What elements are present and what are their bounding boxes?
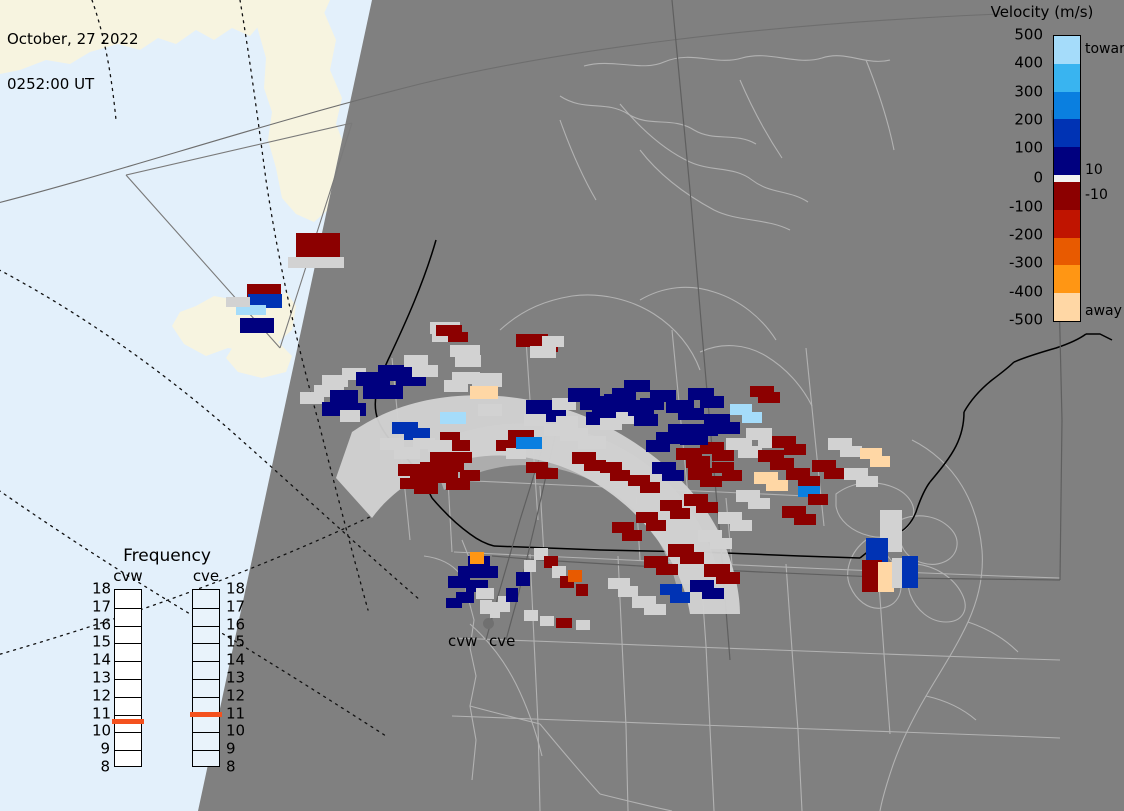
velocity-cell	[612, 388, 636, 400]
colorbar-away-label: away	[1085, 304, 1122, 318]
velocity-cell	[766, 480, 788, 491]
colorbar-tick-label: 500	[1014, 28, 1043, 43]
colorbar-tick-label: 100	[1014, 141, 1043, 156]
frequency-tick-label: 11	[92, 706, 110, 721]
frequency-tick-label: 16	[226, 617, 248, 632]
colorbar-tick-label: 200	[1014, 113, 1043, 128]
velocity-cell	[240, 318, 274, 333]
frequency-tick-label: 10	[92, 724, 110, 739]
velocity-cell	[516, 572, 530, 586]
velocity-cell	[476, 588, 494, 599]
velocity-cell	[576, 620, 590, 630]
colorbar-tick-label: -400	[1009, 284, 1043, 299]
frequency-gridline	[193, 661, 219, 662]
velocity-cell	[452, 452, 472, 463]
colorbar-tick-labels: 5004003002001000-100-200-300-400-500	[965, 35, 1049, 322]
velocity-cell	[742, 412, 762, 423]
velocity-cell	[662, 470, 684, 481]
velocity-cell	[300, 392, 324, 404]
velocity-cell	[524, 610, 538, 621]
frequency-gridline	[193, 626, 219, 627]
timestamp: October, 27 2022 0252:00 UT	[7, 2, 139, 122]
colorbar-tick-label: 300	[1014, 84, 1043, 99]
velocity-cell	[536, 468, 558, 479]
velocity-cell	[808, 494, 828, 505]
frequency-gridline	[115, 697, 141, 698]
colorbar-band	[1054, 210, 1080, 239]
velocity-cell	[748, 498, 770, 509]
velocity-cell	[380, 438, 404, 450]
frequency-marker-cve	[190, 712, 222, 717]
velocity-cell	[646, 520, 666, 531]
timestamp-time: 0252:00 UT	[7, 77, 139, 92]
velocity-cell	[680, 552, 704, 564]
velocity-cell	[618, 586, 638, 597]
frequency-tick-label: 12	[226, 688, 248, 703]
colorbar-tick-label: -100	[1009, 199, 1043, 214]
frequency-gridline	[115, 750, 141, 751]
velocity-cell	[470, 552, 484, 564]
velocity-cell	[398, 464, 420, 476]
velocity-cell	[686, 456, 710, 468]
frequency-tick-label: 17	[92, 599, 110, 614]
frequency-marker-cvw	[112, 719, 144, 724]
velocity-cell	[716, 572, 740, 584]
velocity-cell	[678, 408, 704, 420]
colorbar-band	[1054, 36, 1080, 65]
colorbar-toward-label: toward	[1085, 42, 1124, 56]
frequency-tick-label: 8	[226, 760, 248, 775]
velocity-cell	[670, 508, 690, 519]
velocity-cell	[540, 616, 554, 626]
velocity-cell	[702, 588, 724, 599]
radar-map-figure: October, 27 2022 0252:00 UT Velocity (m/…	[0, 0, 1124, 811]
frequency-gridline	[115, 679, 141, 680]
velocity-cell	[670, 592, 690, 603]
velocity-cell	[450, 440, 470, 451]
velocity-cell	[400, 478, 422, 489]
colorbar-tick-label: -500	[1009, 313, 1043, 328]
colorbar-negative-threshold-label: -10	[1085, 188, 1108, 202]
velocity-cell	[516, 437, 542, 449]
frequency-tick-label: 15	[226, 635, 248, 650]
velocity-cell	[440, 412, 466, 424]
velocity-cell	[524, 414, 546, 426]
velocity-cell	[288, 257, 344, 268]
velocity-cell	[824, 468, 846, 479]
frequency-gridline	[115, 732, 141, 733]
frequency-gridline	[193, 679, 219, 680]
velocity-cell	[363, 385, 403, 399]
velocity-cell	[730, 520, 752, 531]
velocity-cell	[634, 414, 658, 426]
velocity-cell	[700, 476, 722, 487]
frequency-tick-label: 9	[226, 742, 248, 757]
colorbar-gradient	[1053, 35, 1081, 322]
velocity-cell	[576, 584, 588, 596]
radar-site-dot	[483, 618, 494, 629]
velocity-cell	[840, 446, 862, 457]
frequency-tick-label: 14	[92, 653, 110, 668]
frequency-tick-label: 17	[226, 599, 248, 614]
velocity-cell	[712, 450, 734, 461]
frequency-bar-cvw	[114, 589, 142, 767]
frequency-gridline	[115, 643, 141, 644]
colorbar-band	[1054, 238, 1080, 267]
velocity-cell	[578, 436, 606, 449]
colorbar-tick-label: 400	[1014, 56, 1043, 71]
frequency-gridline	[115, 626, 141, 627]
velocity-cell	[696, 502, 718, 513]
velocity-cell	[506, 588, 518, 602]
velocity-cell	[622, 530, 642, 541]
velocity-cell	[460, 470, 480, 481]
frequency-gridline	[115, 661, 141, 662]
colorbar-band	[1054, 182, 1080, 211]
frequency-tick-label: 16	[92, 617, 110, 632]
frequency-gridline	[115, 608, 141, 609]
frequency-title: Frequency	[92, 546, 242, 566]
velocity-cell	[700, 396, 724, 408]
frequency-tick-label: 8	[92, 760, 110, 775]
velocity-cell	[428, 440, 452, 452]
velocity-cell	[856, 476, 878, 487]
velocity-cell	[472, 373, 502, 387]
colorbar-band	[1054, 265, 1080, 294]
velocity-cell	[758, 392, 780, 403]
frequency-tick-label: 10	[226, 724, 248, 739]
velocity-cell	[722, 470, 742, 481]
velocity-cell	[610, 470, 630, 481]
frequency-tick-label: 18	[92, 582, 110, 597]
frequency-gridline	[115, 715, 141, 716]
velocity-cell	[568, 570, 582, 582]
colorbar-tick-label: 0	[1033, 170, 1043, 185]
frequency-tick-label: 13	[92, 671, 110, 686]
colorbar-tick-label: -200	[1009, 227, 1043, 242]
velocity-cell	[524, 560, 536, 572]
velocity-cell	[478, 404, 502, 416]
velocity-cell	[478, 566, 498, 578]
colorbar-title: Velocity (m/s)	[977, 3, 1107, 21]
radar-site-label-cvw: cvw	[448, 634, 477, 649]
frequency-column-label-cve: cve	[184, 567, 228, 585]
velocity-cell	[902, 556, 918, 588]
frequency-tick-label: 12	[92, 688, 110, 703]
velocity-cell	[640, 482, 660, 493]
frequency-tick-label: 15	[92, 635, 110, 650]
velocity-cell	[656, 564, 678, 575]
frequency-tick-label: 11	[226, 706, 248, 721]
velocity-cell	[226, 297, 250, 307]
frequency-gridline	[193, 643, 219, 644]
velocity-cell	[530, 346, 556, 358]
timestamp-date: October, 27 2022	[7, 32, 139, 47]
velocity-cell	[455, 355, 481, 367]
frequency-bar-cve	[192, 589, 220, 767]
velocity-cell	[556, 618, 572, 628]
velocity-cell	[506, 448, 526, 459]
frequency-panel: Frequency cvw cve 18171615141312111098 1…	[92, 546, 242, 781]
velocity-cell	[340, 410, 360, 422]
colorbar-tick-label: -300	[1009, 256, 1043, 271]
frequency-gridline	[193, 732, 219, 733]
velocity-cell	[448, 332, 468, 342]
velocity-cell	[644, 604, 666, 615]
velocity-cell	[470, 386, 498, 399]
colorbar-band	[1054, 92, 1080, 121]
velocity-cell	[784, 444, 806, 455]
velocity-colorbar: Velocity (m/s) 5004003002001000-100-200-…	[965, 0, 1124, 340]
velocity-cell	[710, 538, 732, 549]
velocity-cell	[716, 422, 740, 434]
colorbar-band	[1054, 147, 1080, 176]
frequency-tick-label: 13	[226, 671, 248, 686]
colorbar-band	[1054, 119, 1080, 148]
frequency-gridline	[193, 697, 219, 698]
velocity-cell	[412, 365, 438, 377]
colorbar-positive-threshold-label: 10	[1085, 163, 1103, 177]
velocity-cell	[446, 598, 462, 608]
colorbar-band	[1054, 64, 1080, 93]
frequency-column-label-cvw: cvw	[106, 567, 150, 585]
frequency-gridline	[193, 750, 219, 751]
frequency-tick-label: 18	[226, 582, 248, 597]
colorbar-band	[1054, 293, 1080, 321]
frequency-tick-label: 9	[92, 742, 110, 757]
radar-site-label-cve: cve	[489, 634, 515, 649]
frequency-tick-label: 14	[226, 653, 248, 668]
velocity-cell	[646, 440, 670, 452]
velocity-cell	[870, 456, 890, 467]
frequency-gridline	[193, 608, 219, 609]
velocity-cell	[794, 514, 816, 525]
velocity-cell	[640, 398, 664, 410]
